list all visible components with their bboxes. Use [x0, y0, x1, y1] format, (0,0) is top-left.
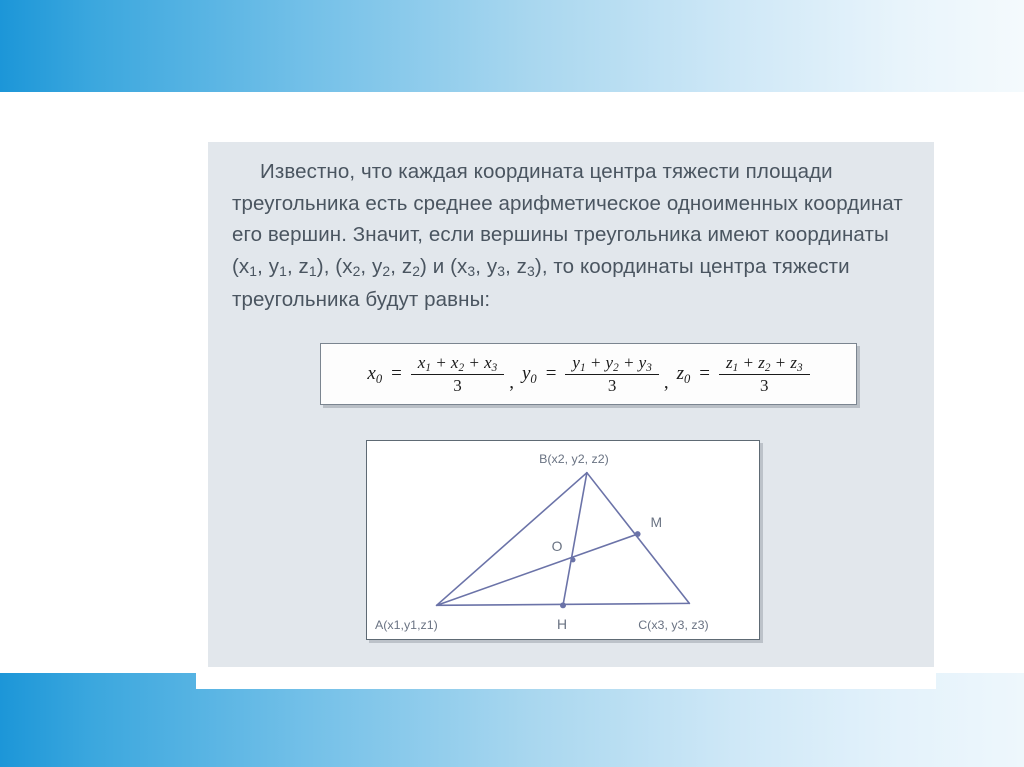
formula-term-z0: z0 = z1 + z2 + z3 3: [675, 353, 812, 396]
formula-lhs-z0: z0: [675, 363, 693, 385]
formula-numerator-z: z1 + z2 + z3: [719, 353, 810, 374]
formula-term-y0: y0 = y1 + y2 + y3 3: [520, 353, 661, 396]
diagram-vertex-dots: [560, 531, 641, 608]
formula-separator-2: ,: [661, 372, 675, 396]
formula-fraction-x: x1 + x2 + x3 3: [411, 353, 504, 396]
diagram-label-M: M: [651, 514, 663, 530]
formula-numerator-x: x1 + x2 + x3: [411, 353, 504, 374]
formula-equals-x: =: [384, 363, 409, 385]
formula-lhs-x0: x0: [365, 363, 384, 385]
formula-numerator-y: y1 + y2 + y3: [565, 353, 658, 374]
diagram-label-C: C(x3, y3, z3): [638, 618, 708, 632]
triangle-diagram-box: B(x2, y2, z2) A(x1,y1,z1) C(x3, y3, z3) …: [366, 440, 760, 640]
formula-term-x0: x0 = x1 + x2 + x3 3: [365, 353, 506, 396]
formula-denominator-y: 3: [565, 374, 658, 396]
diagram-label-B: B(x2, y2, z2): [539, 452, 609, 466]
point-M-dot: [635, 531, 641, 537]
slide-root: Известно, что каждая координата центра т…: [0, 0, 1024, 767]
body-paragraph: Известно, что каждая координата центра т…: [232, 156, 904, 316]
formula-equals-y: =: [539, 363, 564, 385]
formula-separator-1: ,: [506, 372, 520, 396]
formula-denominator-z: 3: [719, 374, 810, 396]
segment-BH-median: [563, 473, 587, 606]
centroid-formula: x0 = x1 + x2 + x3 3 , y0 = y1 + y2 + y3 …: [365, 353, 811, 396]
segment-AB: [437, 473, 587, 606]
triangle-segments: [437, 473, 690, 606]
segment-BC: [587, 473, 689, 604]
formula-fraction-y: y1 + y2 + y3 3: [565, 353, 658, 396]
formula-fraction-z: z1 + z2 + z3 3: [719, 353, 810, 396]
segment-AM-median: [437, 534, 638, 605]
point-O-dot: [570, 557, 575, 562]
formula-lhs-y0: y0: [520, 363, 539, 385]
diagram-label-A: A(x1,y1,z1): [375, 618, 438, 632]
triangle-diagram-svg: B(x2, y2, z2) A(x1,y1,z1) C(x3, y3, z3) …: [367, 441, 759, 639]
bottom-band-notch: [196, 673, 936, 689]
point-H-dot: [560, 602, 566, 608]
diagram-label-H: H: [557, 616, 567, 632]
formula-equals-z: =: [692, 363, 717, 385]
formula-box: x0 = x1 + x2 + x3 3 , y0 = y1 + y2 + y3 …: [320, 343, 857, 405]
diagram-label-O: O: [552, 538, 563, 554]
formula-denominator-x: 3: [411, 374, 504, 396]
top-decorative-band: [0, 0, 1024, 92]
